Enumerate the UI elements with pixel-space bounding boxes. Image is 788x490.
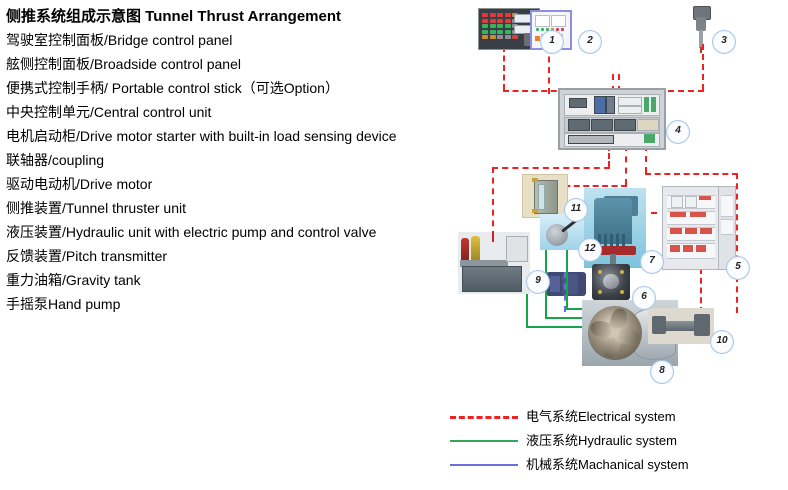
wire-hydraulic-9-to-thruster <box>526 326 585 328</box>
badge-7: 7 <box>640 250 664 274</box>
badge-10: 10 <box>710 330 734 354</box>
coupling-bolt-4 <box>620 290 624 294</box>
drive-module-2 <box>591 119 613 131</box>
coupling-bolt-2 <box>620 270 624 274</box>
relay-4b <box>683 245 693 252</box>
system-diagram: 1 2 3 <box>440 0 788 400</box>
wire-electrical-starter-down <box>736 173 738 313</box>
gravity-tank-image <box>522 174 568 218</box>
relay-3b <box>685 228 697 234</box>
list-item-3: 便携式控制手柄/ Portable control stick（可选Option… <box>6 76 456 100</box>
stick-body <box>696 17 706 31</box>
coupling-bolt-3 <box>598 290 602 294</box>
relay-1 <box>699 196 711 200</box>
system-legend: 电气系统Electrical system 液压系统Hydraulic syst… <box>450 405 780 477</box>
thruster-propeller <box>588 306 642 360</box>
relay-4a <box>670 245 680 252</box>
legend-swatch-hydraulic <box>450 440 518 442</box>
motor-starter-image <box>662 186 736 270</box>
control-box <box>506 236 528 262</box>
motor-fin-5 <box>622 234 625 246</box>
keypad <box>482 13 518 39</box>
tank-cap-top <box>532 178 538 182</box>
legend-label-mechanical: 机械系统Machanical system <box>526 453 689 477</box>
diagram-page: 侧推系统组成示意图 Tunnel Thrust Arrangement 驾驶室控… <box>0 0 788 490</box>
relay-3c <box>700 228 712 234</box>
badge-11: 11 <box>564 198 588 222</box>
relay-3a <box>670 228 682 234</box>
wire-hydraulic-11-to-thruster <box>545 317 585 319</box>
wire-electrical-to-tank <box>700 268 702 313</box>
list-item-5: 电机启动柜/Drive motor starter with built-in … <box>6 124 456 148</box>
terminal-block-row <box>568 135 614 144</box>
relay-4c <box>696 245 706 252</box>
list-item-7: 驱动电动机/Drive motor <box>6 172 456 196</box>
badge-1: 1 <box>540 30 564 54</box>
terminal-strip-b <box>618 106 642 114</box>
plc-cpu <box>594 96 606 114</box>
wire-electrical-to-hydraulic-v <box>492 167 494 237</box>
door-device-2 <box>721 219 733 235</box>
drive-module-4 <box>637 119 659 131</box>
badge-4: 4 <box>666 120 690 144</box>
legend-row-electrical: 电气系统Electrical system <box>450 405 780 429</box>
sight-glass <box>538 184 545 210</box>
list-item-8: 侧推装置/Tunnel thruster unit <box>6 196 456 220</box>
legend-label-hydraulic: 液压系统Hydraulic system <box>526 429 677 453</box>
plc-module-b <box>606 96 615 114</box>
node-pitch-transmitter[interactable]: 10 <box>648 308 714 344</box>
filter-yellow <box>471 236 480 262</box>
green-terminal-a <box>644 97 649 112</box>
badge-3: 3 <box>712 30 736 54</box>
wire-mechanical-dashed-left <box>564 272 566 312</box>
list-item-2: 舷侧控制面板/Broadside control panel <box>6 52 456 76</box>
list-item-1: 驾驶室控制面板/Bridge control panel <box>6 28 456 52</box>
breaker-1b <box>685 196 697 208</box>
relay-2a <box>670 212 686 217</box>
legend-swatch-mechanical <box>450 464 518 466</box>
transmitter-end-right <box>694 314 710 336</box>
motor-fin-2 <box>604 234 607 246</box>
coupling-hub <box>603 274 619 289</box>
legend-swatch-electrical <box>450 416 518 419</box>
wire-electrical-1-vertical <box>503 46 505 90</box>
panel-screen-left <box>535 15 550 27</box>
drive-module-1 <box>568 119 590 131</box>
node-central-control-unit[interactable]: 4 <box>558 88 666 150</box>
panel-screen-right <box>551 15 566 27</box>
relay-2b <box>690 212 706 217</box>
list-item-4: 中央控制单元/Central control unit <box>6 100 456 124</box>
central-control-unit-image <box>558 88 666 150</box>
node-gravity-tank[interactable]: 11 <box>522 174 568 218</box>
badge-6: 6 <box>632 286 656 310</box>
coupling-bolt-1 <box>598 270 602 274</box>
badge-5: 5 <box>726 256 750 280</box>
node-coupling[interactable]: 6 <box>592 264 630 300</box>
page-title: 侧推系统组成示意图 Tunnel Thrust Arrangement <box>6 6 456 28</box>
component-legend-text: 侧推系统组成示意图 Tunnel Thrust Arrangement 驾驶室控… <box>6 6 456 316</box>
hydraulic-unit-image <box>458 232 530 294</box>
indicator-pin <box>492 232 494 242</box>
badge-12: 12 <box>578 238 602 262</box>
pitch-transmitter-image <box>648 308 714 344</box>
filter-red <box>461 238 469 262</box>
green-terminal-b <box>651 97 656 112</box>
node-hydraulic-unit[interactable]: 9 <box>458 232 530 294</box>
legend-label-electrical: 电气系统Electrical system <box>526 405 676 429</box>
motor-fin-3 <box>610 234 613 246</box>
terminal-strip-a <box>618 97 642 106</box>
tank-cap-bottom <box>532 209 538 213</box>
wire-electrical-3-vertical <box>702 44 704 90</box>
badge-9: 9 <box>526 270 550 294</box>
node-motor-starter-cabinet[interactable]: 5 <box>662 186 736 270</box>
list-item-12: 手摇泵Hand pump <box>6 292 456 316</box>
door-device-1 <box>721 195 733 217</box>
list-item-10: 反馈装置/Pitch transmitter <box>6 244 456 268</box>
oil-tank <box>462 266 522 292</box>
badge-8: 8 <box>650 360 674 384</box>
plc-module-a <box>569 98 587 108</box>
legend-row-hydraulic: 液压系统Hydraulic system <box>450 429 780 453</box>
breaker-1a <box>671 196 683 208</box>
list-item-11: 重力油箱/Gravity tank <box>6 268 456 292</box>
node-portable-control-stick[interactable]: 3 <box>686 6 716 54</box>
wire-hydraulic-12-down <box>566 250 568 308</box>
portable-control-stick-image <box>686 6 716 54</box>
motor-fin-4 <box>616 234 619 246</box>
drive-module-3 <box>614 119 636 131</box>
transmitter-end-left <box>652 316 666 334</box>
list-item-9: 液压装置/Hydraulic unit with electric pump a… <box>6 220 456 244</box>
green-connector <box>644 134 655 143</box>
wire-electrical-to-hydraulic-h <box>492 167 610 169</box>
list-item-6: 联轴器/coupling <box>6 148 456 172</box>
legend-row-mechanical: 机械系统Machanical system <box>450 453 780 477</box>
wire-electrical-to-starter-h <box>645 173 738 175</box>
wire-electrical-bus-mid <box>625 145 627 185</box>
coupling-image <box>592 264 630 300</box>
badge-2: 2 <box>578 30 602 54</box>
